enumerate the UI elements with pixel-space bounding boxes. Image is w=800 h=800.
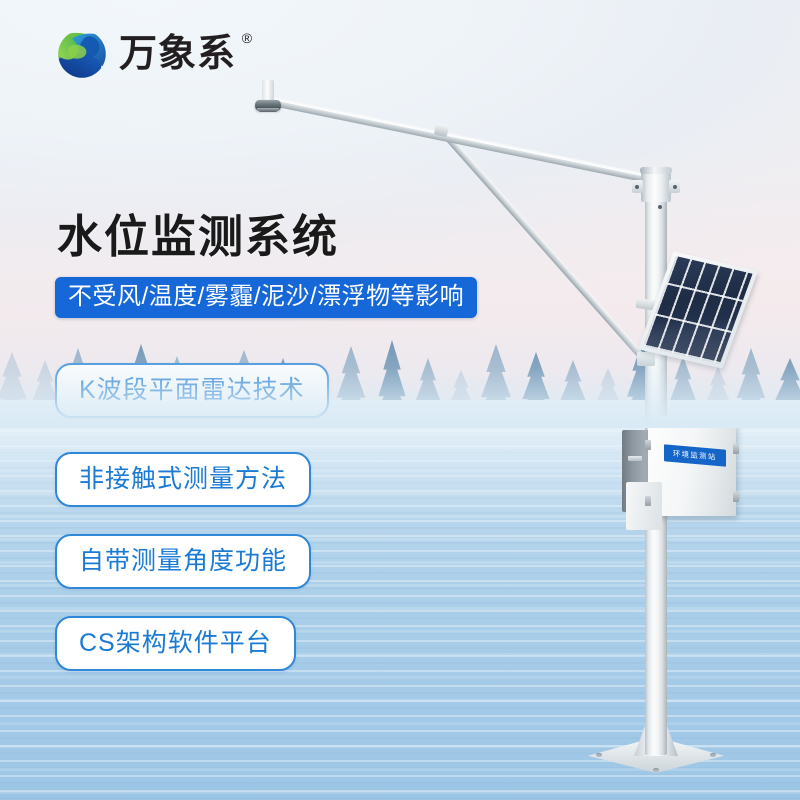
cabinet-hinge [733,492,739,502]
control-cabinet-lower-box [626,482,662,530]
page-title: 水位监测系统 [57,214,339,259]
control-cabinet-label-text: 环境监测站 [673,449,717,463]
collar-bolt [673,185,677,189]
cabinet-hinge [645,496,651,506]
globe-swirl-logo-icon [55,27,109,81]
feature-pill-cs-platform: CS架构软件平台 [55,616,296,671]
radar-sensor-face-icon [257,108,279,112]
arm-joint-sleeve [434,123,449,137]
feature-pill-non-contact: 非接触式测量方法 [55,452,311,507]
brand-name-text: 万象系 [119,33,236,75]
cabinet-hinge [733,444,739,454]
cantilever-arm-highlight [272,98,649,177]
brand-logo: 万象系 ® [55,27,236,81]
base-bolt-hole [596,753,602,757]
brand-name: 万象系 ® [119,35,236,73]
base-bolt-hole [653,768,659,772]
cabinet-hinge [645,440,651,450]
registered-trademark-icon: ® [242,31,253,45]
collar-bolt [635,185,639,189]
collar-bolt [658,205,662,209]
pole-collar-lip [640,167,672,174]
product-poster: 环境监测站 [0,0,800,800]
feature-pill-angle-measure: 自带测量角度功能 [55,534,311,589]
base-bolt-hole [710,753,716,757]
treeline [0,318,800,428]
control-cabinet-vent [628,456,642,461]
subtitle-badge: 不受风/温度/雾霾/泥沙/漂浮物等影响 [55,277,477,318]
